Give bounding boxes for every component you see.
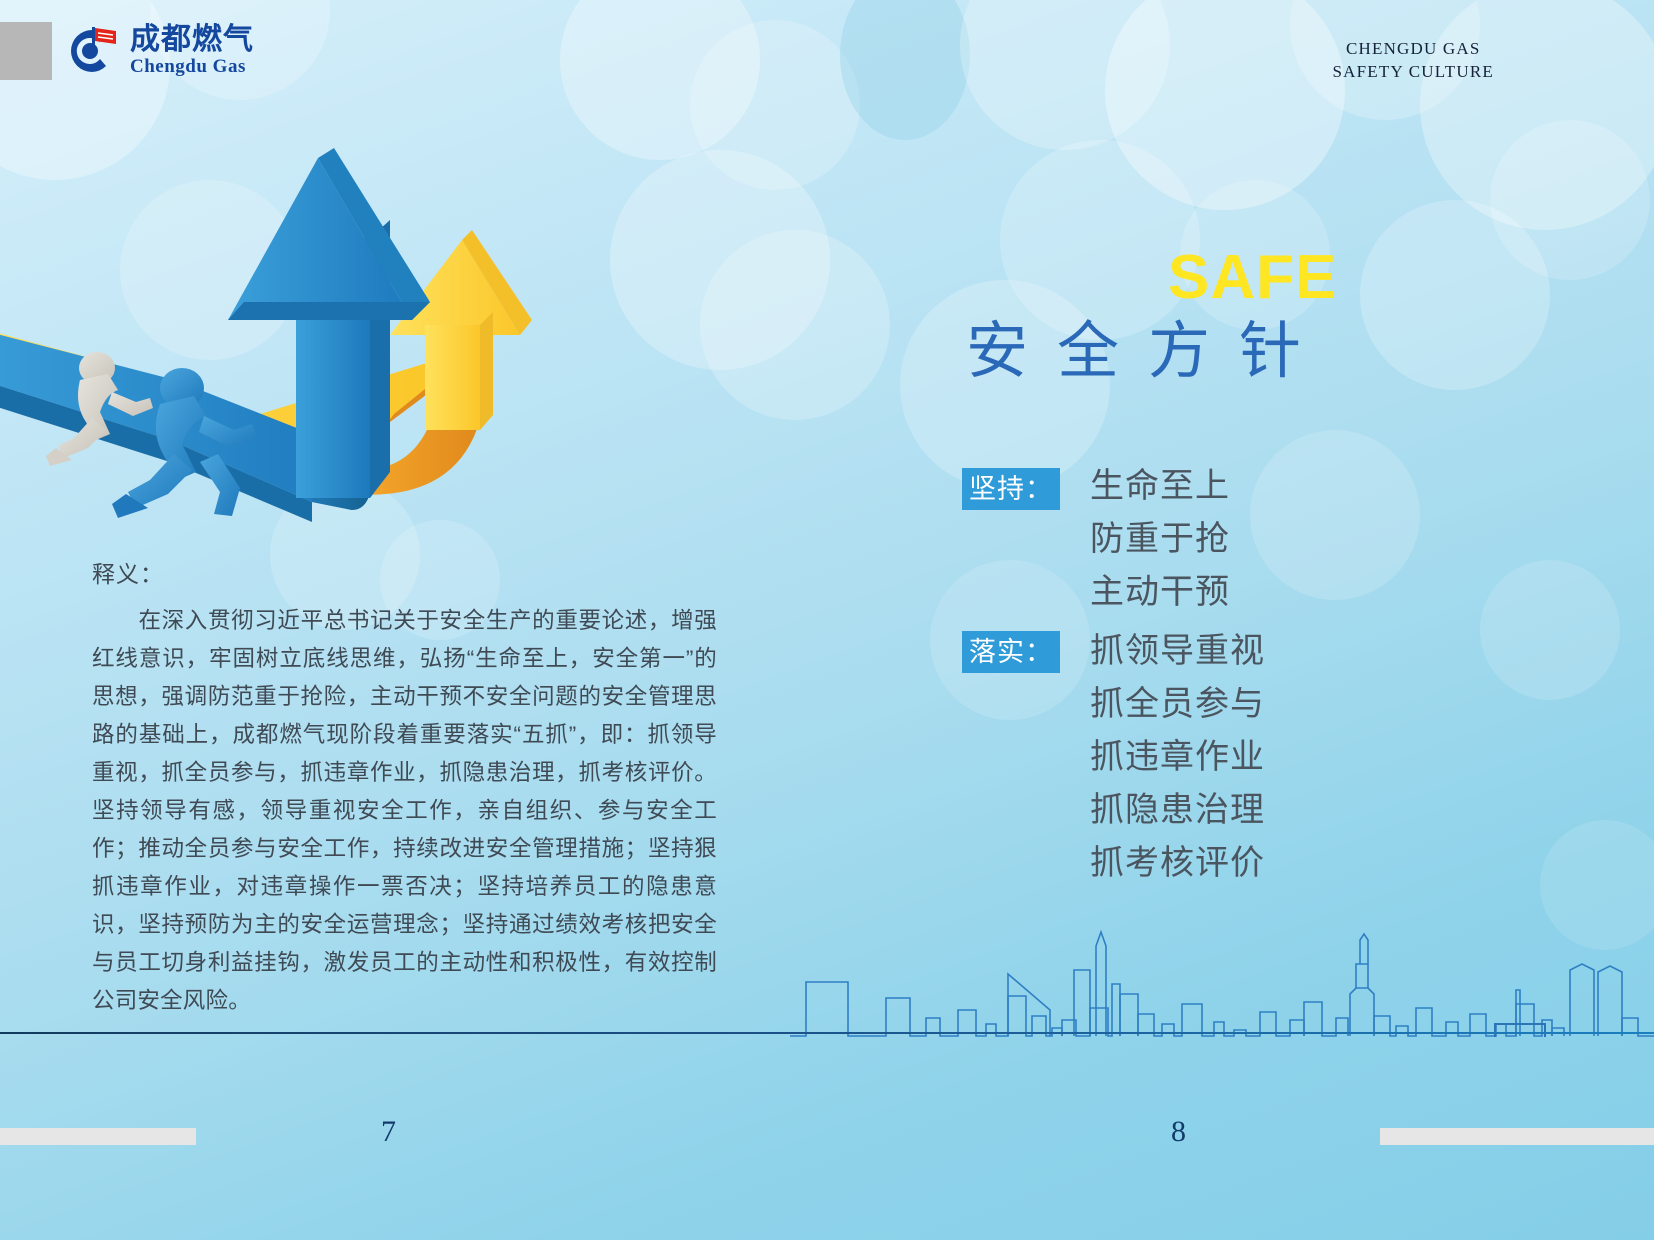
header-title-line1: CHENGDU GAS <box>1333 38 1494 61</box>
policy-group-luoshi: 落实： 抓领导重视 抓全员参与 抓违章作业 抓隐患治理 抓考核评价 <box>962 625 1382 890</box>
rising-arrow-runners-illustration <box>0 70 560 570</box>
policy-item: 抓领导重视 <box>1090 625 1382 678</box>
policy-group-chizhi: 坚持： 生命至上 防重于抢 主动干预 <box>962 460 1382 625</box>
policy-group-label-0: 坚持： <box>962 468 1060 510</box>
explanation-body-text: 在深入贯彻习近平总书记关于安全生产的重要论述，增强红线意识，牢固树立底线思维，弘… <box>92 608 717 1013</box>
explanation-block: 释义： 在深入贯彻习近平总书记关于安全生产的重要论述，增强红线意识，牢固树立底线… <box>92 563 717 1020</box>
safe-eyebrow: SAFE <box>1168 247 1337 309</box>
spine-notch <box>1494 1023 1546 1037</box>
page-spread: 成都燃气 Chengdu Gas CHENGDU GAS SAFETY CULT… <box>0 0 1654 1240</box>
brand-name-cn: 成都燃气 <box>130 24 254 56</box>
explanation-body: 在深入贯彻习近平总书记关于安全生产的重要论述，增强红线意识，牢固树立底线思维，弘… <box>92 602 717 1020</box>
page-title: 安全方针 <box>966 318 1330 386</box>
page-number-right: 8 <box>1171 1115 1186 1149</box>
header-title-line2: SAFETY CULTURE <box>1333 61 1494 84</box>
policy-group-label-1: 落实： <box>962 631 1060 673</box>
policy-groups: 坚持： 生命至上 防重于抢 主动干预 落实： 抓领导重视 抓全员参与 抓违章作业… <box>962 460 1382 890</box>
policy-item: 抓考核评价 <box>1090 837 1382 890</box>
footer-bar-left <box>0 1128 196 1145</box>
footer-bar-right <box>1380 1128 1654 1145</box>
header-title: CHENGDU GAS SAFETY CULTURE <box>1333 38 1494 84</box>
policy-item: 抓全员参与 <box>1090 678 1382 731</box>
policy-item: 防重于抢 <box>1090 513 1382 566</box>
page-number-left: 7 <box>381 1115 396 1149</box>
footer-divider <box>0 1032 1654 1034</box>
policy-group-items-1: 抓领导重视 抓全员参与 抓违章作业 抓隐患治理 抓考核评价 <box>1090 625 1382 890</box>
explanation-title: 释义： <box>92 563 717 586</box>
policy-item: 抓隐患治理 <box>1090 784 1382 837</box>
policy-item: 生命至上 <box>1090 460 1382 513</box>
policy-group-items-0: 生命至上 防重于抢 主动干预 <box>1090 460 1382 619</box>
policy-item: 主动干预 <box>1090 566 1382 619</box>
policy-item: 抓违章作业 <box>1090 731 1382 784</box>
